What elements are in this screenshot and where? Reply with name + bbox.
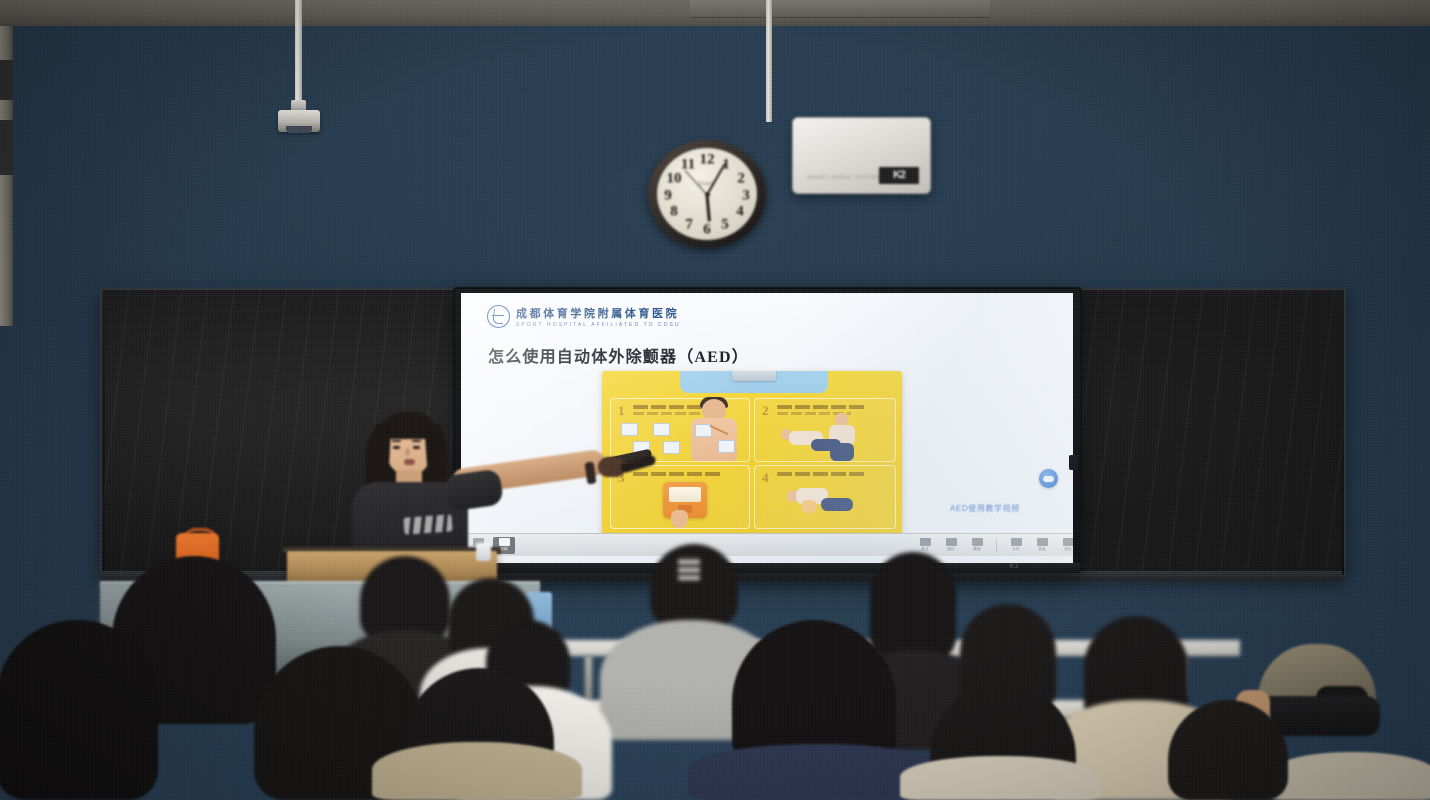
poster-step-2: 2 (754, 398, 896, 462)
aed-screen (669, 487, 701, 502)
taskbar-undo-button[interactable]: 撤销 (966, 537, 988, 554)
clock-face: Quartz 12 1 2 3 4 5 6 7 8 9 10 11 (657, 148, 757, 240)
taskbar-label: 撤销 (973, 547, 981, 552)
hospital-letterhead: 成都体育学院附属体育医院 SPORT HOSPITAL AFFILIATED T… (487, 305, 681, 328)
clock-hour-4: 4 (736, 205, 744, 220)
presenter-shirt-graphic (403, 514, 452, 534)
patient-torso-illustration (684, 399, 744, 461)
step-2-number: 2 (762, 403, 769, 419)
clock-hour-3: 3 (742, 188, 750, 203)
pad-placement-lower-left (718, 440, 735, 453)
taskbar-label: 指针 (947, 547, 955, 552)
poster-top-band (680, 371, 828, 393)
student-tan-top (372, 742, 582, 800)
taskbar-timer-button[interactable]: 计时 (1005, 537, 1027, 554)
electrode-pad-icon-a (621, 423, 638, 436)
smartboard-brand: K2 (1010, 564, 1019, 570)
student-hair (0, 620, 158, 800)
wall-speaker: SMART AUDIO SYSTEM K2 (792, 117, 931, 194)
ceiling-seam (690, 0, 990, 18)
aed-device-illustration (732, 371, 776, 381)
figure-legs (811, 439, 841, 451)
capped-student-shoulders (1268, 752, 1430, 800)
clock-minute-hand (706, 163, 726, 195)
speaker-caption: SMART AUDIO SYSTEM (807, 175, 881, 181)
clock-hour-9: 9 (664, 188, 672, 203)
taskbar-volume-button[interactable]: 音量 (1031, 537, 1053, 554)
electrode-pad-icon-b (653, 423, 670, 436)
presenter-eye-left (393, 446, 400, 449)
student-light-top (900, 756, 1100, 800)
presentation-slide: 成都体育学院附属体育医院 SPORT HOSPITAL AFFILIATED T… (461, 293, 1073, 551)
poster-step-4: 4 (754, 465, 896, 529)
classroom-photo: Quartz 12 1 2 3 4 5 6 7 8 9 10 11 SMART … (0, 0, 1430, 800)
presenter-hand (598, 455, 652, 479)
hospital-logo-icon (487, 305, 510, 328)
smartboard-screen[interactable]: 成都体育学院附属体育医院 SPORT HOSPITAL AFFILIATED T… (461, 293, 1073, 563)
projector-lens (286, 126, 312, 133)
clock-center-pin (705, 192, 710, 197)
student-hair (870, 552, 956, 660)
taskbar-pointer-button[interactable]: 指针 (940, 537, 962, 554)
taskbar-label: 放映 (500, 547, 508, 552)
aed-instruction-poster: 1 2 (602, 371, 902, 536)
clock-hour-8: 8 (670, 205, 678, 220)
clock-hour-2: 2 (737, 172, 745, 187)
aed-video-link[interactable]: AED使用教学视频 (950, 503, 1020, 514)
volume-icon (1037, 538, 1048, 546)
taskbar-label: 计时 (1012, 547, 1020, 552)
step-4-number: 4 (762, 470, 769, 486)
clock-hour-5: 5 (721, 218, 729, 233)
step-1-number: 1 (618, 403, 625, 419)
hospital-name-block: 成都体育学院附属体育医院 SPORT HOSPITAL AFFILIATED T… (516, 305, 681, 328)
smartboard-ir-sensor (1069, 455, 1078, 470)
presenter-eye-right (413, 446, 420, 449)
presenter-brow-right (412, 440, 421, 442)
taskbar-label: 退出 (1064, 547, 1072, 552)
smartboard-taskbar[interactable]: 主页 放映 批注 指针 撤销 (461, 533, 1073, 556)
step-2-caption (777, 405, 865, 409)
taskbar-exit-button[interactable]: 退出 (1057, 537, 1073, 554)
secondary-ceiling-pole (766, 0, 772, 122)
taskbar-annotate-button[interactable]: 批注 (914, 537, 936, 554)
cloud-sync-icon[interactable] (1039, 469, 1058, 488)
annotate-icon (920, 538, 931, 546)
clock-hour-11: 11 (681, 157, 695, 172)
step-4-caption (777, 472, 865, 476)
taskbar-label: 批注 (921, 547, 929, 552)
presenter-pointing-finger (619, 454, 656, 474)
hospital-name-cn: 成都体育学院附属体育医院 (516, 305, 681, 321)
hand-operating-aed (671, 510, 688, 528)
wall-clock: Quartz 12 1 2 3 4 5 6 7 8 9 10 11 (648, 140, 766, 248)
water-cup (476, 543, 491, 561)
clock-hour-6: 6 (703, 222, 711, 237)
clock-hour-7: 7 (685, 218, 693, 233)
clock-hour-12: 12 (700, 152, 715, 167)
taskbar-label: 音量 (1038, 547, 1046, 552)
slideshow-icon (499, 538, 510, 546)
rescuer-arms (801, 500, 817, 513)
undo-icon (972, 538, 983, 546)
presenter-nose (405, 448, 410, 456)
pointer-icon (946, 538, 957, 546)
desk-leg-a (585, 656, 592, 700)
taskbar-divider (996, 539, 997, 552)
electrode-pad-icon-d (663, 441, 680, 454)
jamb-panel-upper (0, 60, 13, 100)
figure-legs (821, 498, 853, 511)
timer-icon (1011, 538, 1022, 546)
presenter-mouth (404, 459, 415, 465)
presenter-brow-left (392, 440, 401, 442)
jamb-panel-lower (0, 120, 13, 175)
clock-hour-10: 10 (667, 172, 682, 187)
speaker-logo: K2 (879, 167, 919, 184)
projector-pole (295, 0, 302, 105)
smartboard-chin (455, 563, 1080, 573)
hospital-name-en: SPORT HOSPITAL AFFILIATED TO CDSU (516, 322, 681, 328)
exit-icon (1063, 538, 1074, 546)
slide-title: 怎么使用自动体外除颤器（AED） (488, 343, 749, 367)
hair-clip (678, 556, 700, 580)
clock-hour-hand (705, 195, 710, 221)
